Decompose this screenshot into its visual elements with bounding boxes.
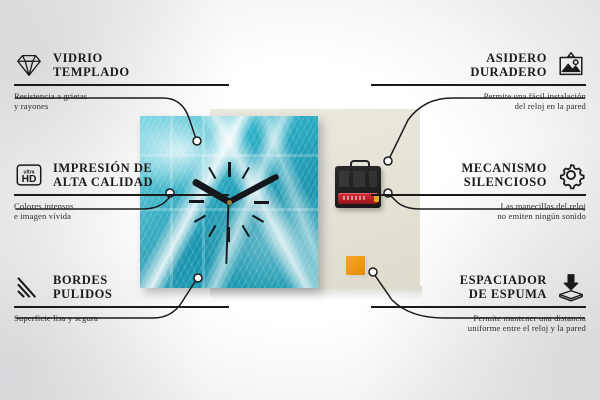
ultra-hd-icon: ultra HD (14, 160, 44, 190)
feature-divider (371, 306, 586, 308)
feature-espaciador-de-espuma: ESPACIADOR DE ESPUMA Permite mantener un… (371, 272, 586, 334)
feature-title: BORDES PULIDOS (53, 273, 112, 302)
feature-title: ESPACIADOR DE ESPUMA (460, 273, 547, 302)
feature-header: ASIDERO DURADERO (371, 50, 586, 80)
feature-header: ESPACIADOR DE ESPUMA (371, 272, 586, 302)
feature-impresion-alta-calidad: ultra HD IMPRESIÓN DE ALTA CALIDAD Color… (14, 160, 229, 222)
feature-header: MECANISMO SILENCIOSO (371, 160, 586, 190)
feature-header: VIDRIO TEMPLADO (14, 50, 229, 80)
ultra-hd-main-label: HD (22, 174, 37, 185)
feature-title: IMPRESIÓN DE ALTA CALIDAD (53, 161, 153, 190)
diamond-icon (14, 50, 44, 80)
feature-divider (371, 194, 586, 196)
feature-description: Resistencia a grietas y rayones (14, 91, 229, 112)
feature-divider (14, 306, 229, 308)
feature-description: Permite una fácil instalación del reloj … (371, 91, 586, 112)
foam-spacer (346, 256, 365, 275)
feature-description: Las manecillas del reloj no emiten ningú… (371, 201, 586, 222)
feature-description: Colores intensos e imagen vívida (14, 201, 229, 222)
mechanism-hook (350, 160, 370, 171)
feature-header: ultra HD IMPRESIÓN DE ALTA CALIDAD (14, 160, 229, 190)
feature-title: ASIDERO DURADERO (470, 51, 547, 80)
feature-description: Superficie lisa y segura (14, 313, 229, 324)
feature-divider (14, 84, 229, 86)
feature-vidrio-templado: VIDRIO TEMPLADO Resistencia a grietas y … (14, 50, 229, 112)
arrow-down-pad-icon (556, 272, 586, 302)
feature-asidero-duradero: ASIDERO DURADERO Permite una fácil insta… (371, 50, 586, 112)
feature-title: MECANISMO SILENCIOSO (461, 161, 547, 190)
feature-header: BORDES PULIDOS (14, 272, 229, 302)
feature-title: VIDRIO TEMPLADO (53, 51, 130, 80)
infographic-canvas: VIDRIO TEMPLADO Resistencia a grietas y … (0, 0, 600, 400)
polished-edges-icon (14, 272, 44, 302)
gear-icon (556, 160, 586, 190)
picture-frame-hanger-icon (556, 50, 586, 80)
feature-divider (371, 84, 586, 86)
feature-divider (14, 194, 229, 196)
battery-label-stripe (343, 196, 367, 200)
feature-bordes-pulidos: BORDES PULIDOS Superficie lisa y segura (14, 272, 229, 323)
feature-description: Permite mantener una distancia uniforme … (371, 313, 586, 334)
feature-mecanismo-silencioso: MECANISMO SILENCIOSO Las manecillas del … (371, 160, 586, 222)
